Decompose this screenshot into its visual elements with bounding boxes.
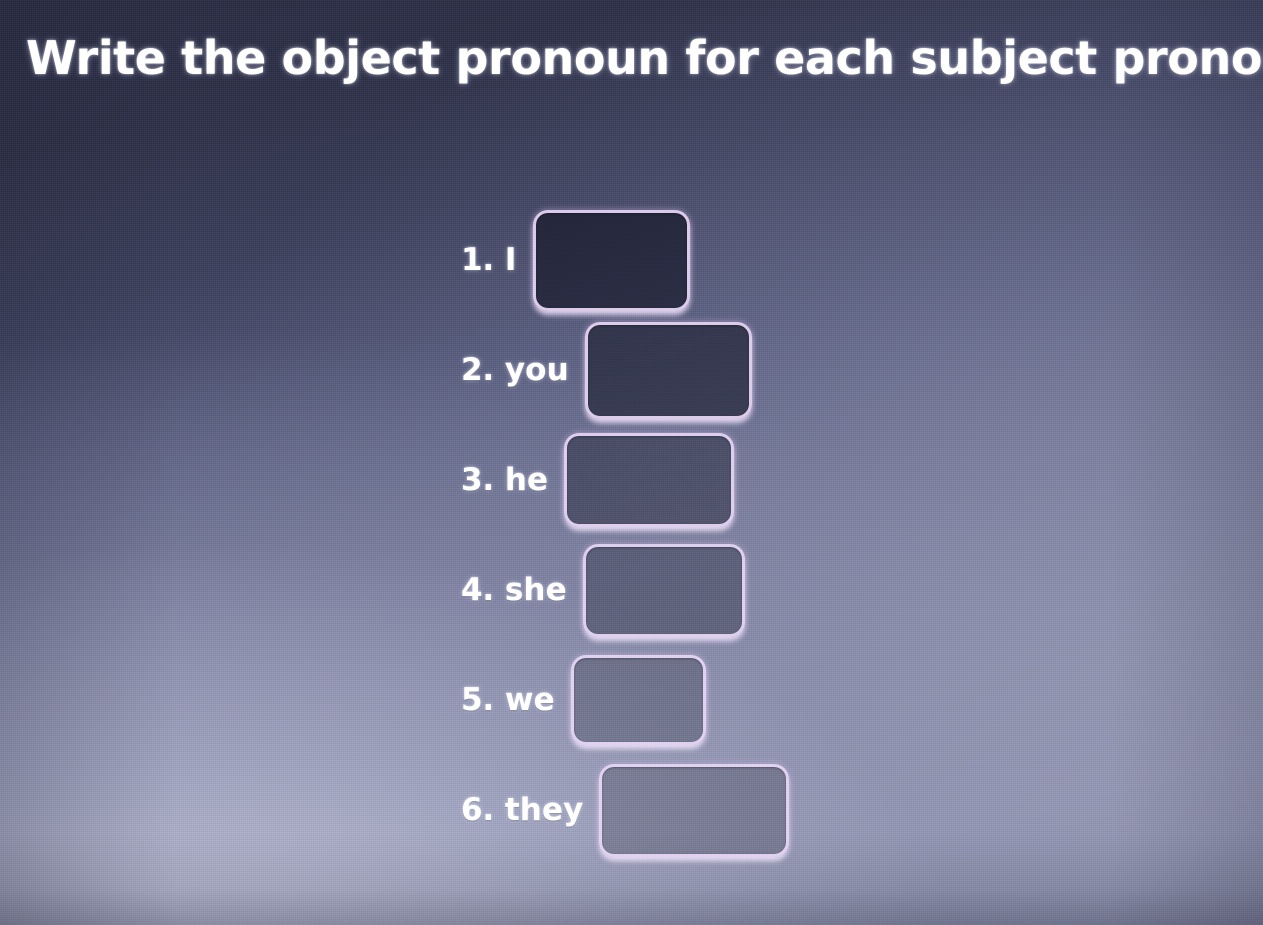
- item-number: 6.: [461, 792, 494, 828]
- item-subject-pronoun: we: [505, 682, 555, 718]
- item-label: 6. they: [461, 792, 583, 828]
- item-subject-pronoun: he: [505, 462, 548, 498]
- item-label: 2. you: [461, 352, 569, 388]
- answer-input-1[interactable]: [533, 210, 690, 311]
- list-item: 6. they: [461, 755, 1061, 865]
- pronoun-exercise-list: 1. I 2. you 3. he 4. she 5. we 6. they: [461, 205, 1061, 865]
- answer-input-4[interactable]: [583, 544, 745, 637]
- list-item: 3. he: [461, 425, 1061, 535]
- item-number: 4.: [461, 572, 494, 608]
- instruction-heading: Write the object pronoun for each subjec…: [26, 34, 1246, 83]
- answer-input-6[interactable]: [599, 764, 789, 857]
- item-label: 1. I: [461, 242, 517, 278]
- list-item: 4. she: [461, 535, 1061, 645]
- list-item: 2. you: [461, 315, 1061, 425]
- answer-input-3[interactable]: [564, 433, 734, 527]
- list-item: 5. we: [461, 645, 1061, 755]
- answer-input-5[interactable]: [571, 655, 706, 745]
- item-number: 2.: [461, 352, 494, 388]
- item-label: 5. we: [461, 682, 555, 718]
- answer-input-2[interactable]: [585, 322, 752, 419]
- item-subject-pronoun: she: [505, 572, 567, 608]
- item-label: 3. he: [461, 462, 548, 498]
- item-number: 3.: [461, 462, 494, 498]
- worksheet-content: Write the object pronoun for each subjec…: [0, 0, 1263, 925]
- item-subject-pronoun: they: [505, 792, 584, 828]
- item-subject-pronoun: you: [505, 352, 569, 388]
- item-subject-pronoun: I: [505, 242, 517, 278]
- item-number: 5.: [461, 682, 494, 718]
- item-label: 4. she: [461, 572, 567, 608]
- item-number: 1.: [461, 242, 494, 278]
- list-item: 1. I: [461, 205, 1061, 315]
